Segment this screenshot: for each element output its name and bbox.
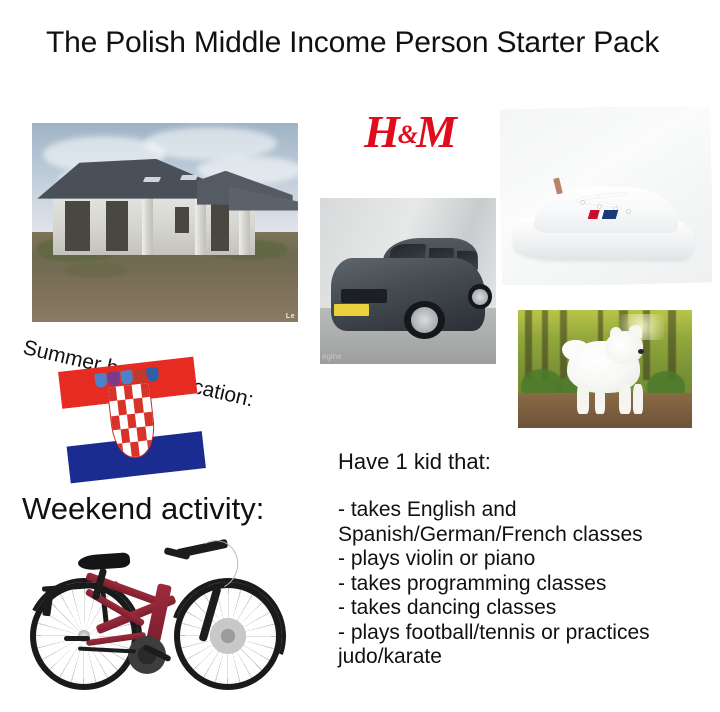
dog-head (605, 331, 643, 364)
car-watermark: eglne (322, 352, 342, 361)
car-grille (341, 289, 387, 302)
skoda-octavia-photo: eglne (320, 198, 496, 364)
bike-derailleur (64, 636, 90, 641)
dog-leg-1 (577, 383, 589, 414)
car-license-plate (334, 304, 369, 316)
house-watermark: Le (286, 313, 295, 320)
dog-leg-2 (595, 386, 605, 414)
unfinished-house-photo: Le (32, 123, 298, 322)
kid-activity-item: - plays violin or piano (338, 547, 720, 572)
tommy-flag-logo (588, 210, 618, 219)
hm-logo: H&M (364, 108, 455, 159)
croatia-flag (58, 357, 206, 484)
samoyed-dog-photo (518, 310, 692, 428)
forest-floor (518, 393, 692, 428)
dog-leg-4 (633, 384, 643, 414)
kid-activity-item: - takes dancing classes (338, 596, 720, 621)
white-sneaker-photo (500, 107, 712, 285)
croatia-coat-of-arms (107, 382, 158, 460)
kid-heading: Have 1 kid that: (338, 449, 491, 475)
checkerboard (108, 383, 157, 459)
hm-letter-m: M (416, 106, 455, 157)
kid-activity-list: - takes English and Spanish/German/Frenc… (338, 498, 720, 670)
kid-activity-item: - plays football/tennis or practices jud… (338, 621, 720, 670)
car-front-wheel (404, 301, 444, 339)
kid-activity-item: - takes English and Spanish/German/Frenc… (338, 498, 720, 547)
page-title: The Polish Middle Income Person Starter … (46, 26, 716, 60)
hm-ampersand: & (398, 120, 416, 149)
weekend-activity-label: Weekend activity: (22, 491, 264, 527)
trekking-bicycle (24, 530, 304, 692)
hm-letter-h: H (364, 106, 398, 157)
dog-leg-3 (619, 383, 631, 414)
bike-saddle (78, 552, 131, 571)
meme-canvas: The Polish Middle Income Person Starter … (0, 0, 720, 712)
kid-activity-item: - takes programming classes (338, 572, 720, 597)
